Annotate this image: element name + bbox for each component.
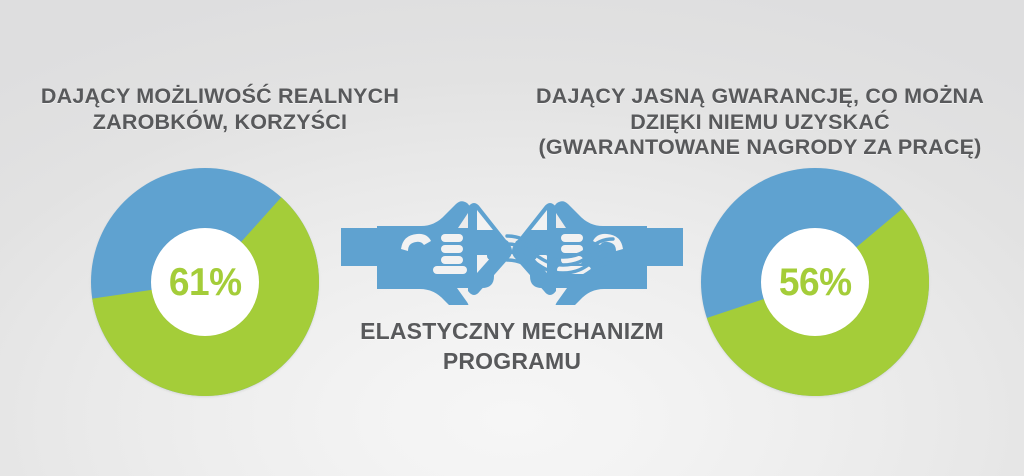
left-finger-line-3 xyxy=(441,256,463,264)
left-donut-chart: 61% xyxy=(90,167,320,397)
left-finger-line-1 xyxy=(441,234,463,242)
center-caption-line-2: PROGRAMU xyxy=(327,346,697,376)
right-donut-value: 56% xyxy=(779,263,852,302)
left-donut-value: 61% xyxy=(169,263,242,302)
right-chart-title-line-1: DAJĄCY JASNĄ GWARANCJĘ, CO MOŻNA xyxy=(520,84,1000,110)
center-caption-line-1: ELASTYCZNY MECHANIZM xyxy=(327,316,697,346)
right-finger-line-1 xyxy=(561,234,583,242)
right-chart-title: DAJĄCY JASNĄ GWARANCJĘ, CO MOŻNA DZIĘKI … xyxy=(520,84,1000,161)
left-chart-title-line-1: DAJĄCY MOŻLIWOŚĆ REALNYCH xyxy=(20,84,420,110)
center-caption: ELASTYCZNY MECHANIZM PROGRAMU xyxy=(327,316,697,376)
left-sleeve-cuff xyxy=(341,228,377,266)
right-chart-title-line-2: DZIĘKI NIEMU UZYSKAĆ xyxy=(520,110,1000,136)
infographic-canvas: DAJĄCY MOŻLIWOŚĆ REALNYCH ZAROBKÓW, KORZ… xyxy=(0,0,1024,476)
right-donut-center: 56% xyxy=(761,228,869,336)
right-donut-chart: 56% xyxy=(700,167,930,397)
right-sleeve-cuff xyxy=(647,228,683,266)
left-donut-center: 61% xyxy=(151,228,259,336)
right-chart-title-line-3: (GWARANTOWANE NAGRODY ZA PRACĘ) xyxy=(520,135,1000,161)
right-finger-line-2 xyxy=(561,245,583,253)
left-chart-title: DAJĄCY MOŻLIWOŚĆ REALNYCH ZAROBKÓW, KORZ… xyxy=(20,84,420,135)
two-hands-stretching-elastic-band-icon xyxy=(337,193,687,305)
left-finger-line-2 xyxy=(441,245,463,253)
left-grip-line xyxy=(433,266,467,274)
left-chart-title-line-2: ZAROBKÓW, KORZYŚCI xyxy=(20,110,420,136)
